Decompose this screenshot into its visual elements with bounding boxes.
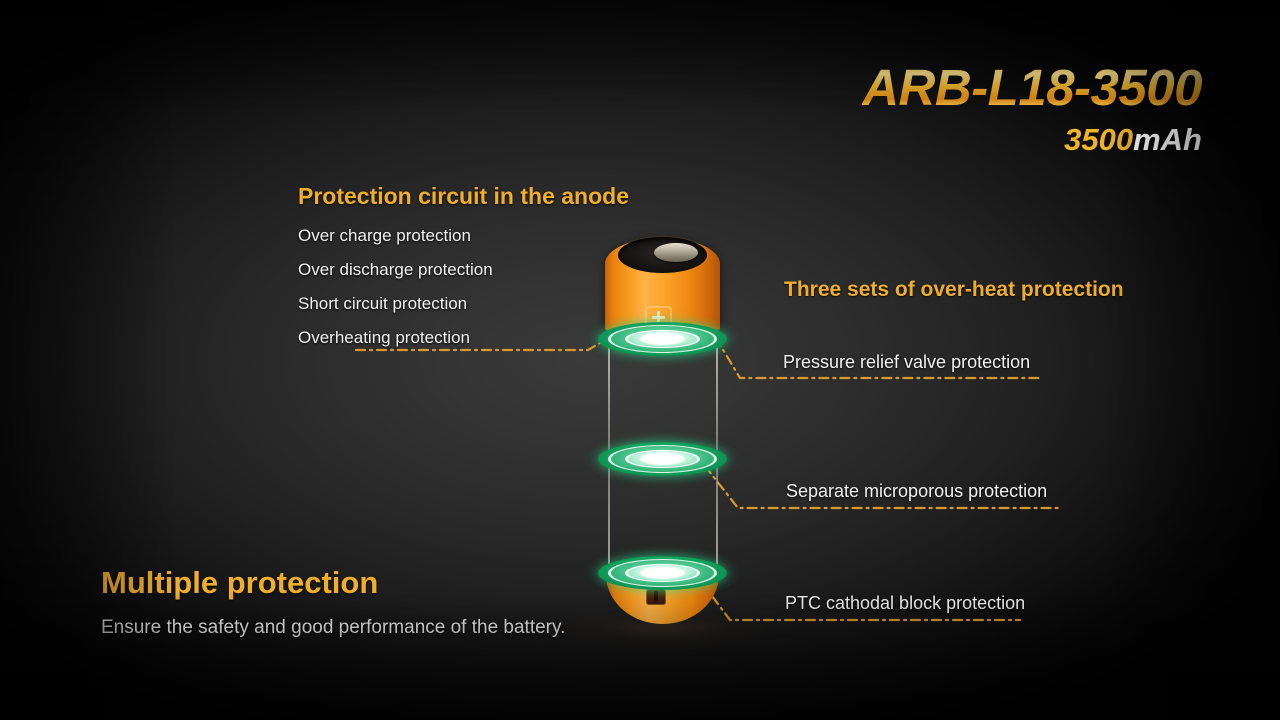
anode-protection-list: Over charge protection Over discharge pr…	[298, 219, 493, 355]
product-title-block: ARB-L18-3500 3500mAh	[862, 62, 1202, 155]
product-title: ARB-L18-3500	[862, 62, 1202, 113]
battery-top-recess	[618, 237, 707, 273]
callout-label-pressure-relief-valve: Pressure relief valve protection	[783, 352, 1030, 373]
list-item: Overheating protection	[298, 321, 493, 355]
protection-disc-top	[598, 322, 727, 356]
multiple-protection-heading: Multiple protection	[101, 565, 378, 601]
multiple-protection-subtitle: Ensure the safety and good performance o…	[101, 617, 565, 639]
capacity-value: 3500	[1064, 122, 1133, 157]
capacity-unit: mAh	[1133, 122, 1202, 157]
list-item: Short circuit protection	[298, 287, 493, 321]
product-capacity: 3500mAh	[862, 124, 1202, 155]
protection-disc-bottom	[598, 556, 727, 590]
overheat-section-heading: Three sets of over-heat protection	[784, 278, 1124, 302]
list-item: Over discharge protection	[298, 253, 493, 287]
callout-label-ptc-cathodal-block: PTC cathodal block protection	[785, 593, 1025, 614]
callout-label-separate-microporous: Separate microporous protection	[786, 481, 1047, 502]
product-infographic: ARB-L18-3500 3500mAh Protection circuit …	[0, 0, 1280, 720]
battery-illustration	[600, 236, 725, 626]
anode-section-heading: Protection circuit in the anode	[298, 183, 629, 210]
list-item: Over charge protection	[298, 219, 493, 253]
positive-terminal-button	[654, 243, 698, 262]
protection-disc-middle	[598, 442, 727, 476]
